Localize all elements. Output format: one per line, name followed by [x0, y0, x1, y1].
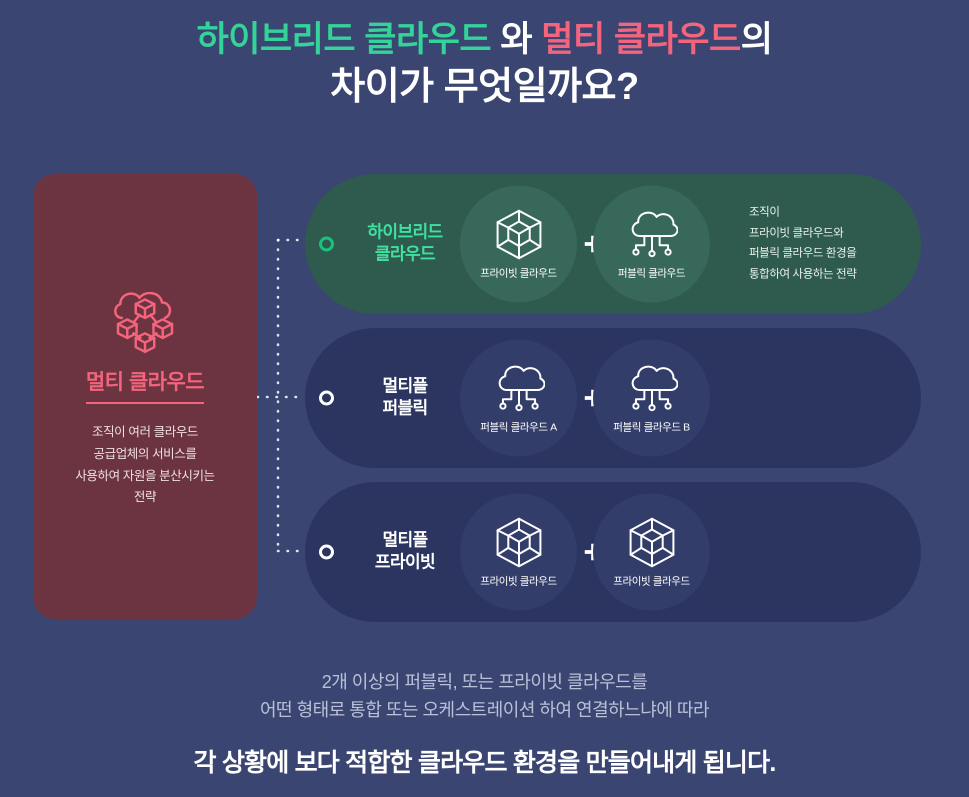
cloud-network-icon	[626, 208, 678, 260]
row-bullet-icon	[319, 545, 334, 560]
cube-icon	[493, 208, 545, 260]
row-hybrid-description: 조직이 프라이빗 클라우드와 퍼블릭 클라우드 환경을 통합하여 사용하는 전략	[749, 203, 856, 286]
bubble-private-cloud-a: 프라이빗 클라우드	[460, 494, 577, 611]
page-headline: 하이브리드 클라우드 와 멀티 클라우드의 차이가 무엇일까요?	[0, 20, 969, 109]
bubble-caption: 퍼블릭 클라우드 A	[480, 419, 556, 434]
multi-cloud-card-title: 멀티 클라우드	[86, 366, 204, 404]
bubble-caption: 프라이빗 클라우드	[480, 573, 557, 588]
headline-suffix-text: 의	[741, 20, 773, 59]
row-multiple-public[interactable]: 멀티플 퍼블릭 퍼블릭 클라우드 A 퍼블릭 클라우드 B	[305, 328, 921, 468]
headline-multi-text: 멀티 클라우드	[541, 20, 740, 59]
bubble-caption: 퍼블릭 클라우드 B	[613, 419, 689, 434]
bubble-caption: 프라이빗 클라우드	[480, 265, 557, 280]
row-hybrid-label: 하이브리드 클라우드	[353, 222, 457, 267]
row-multiple-public-label: 멀티플 퍼블릭	[353, 376, 457, 421]
cube-icon	[626, 516, 678, 568]
row-bullet-icon	[319, 237, 334, 252]
bubble-public-cloud-a: 퍼블릭 클라우드 A	[460, 340, 577, 457]
multi-cloud-summary-card: 멀티 클라우드 조직이 여러 클라우드 공급업체의 서비스를 사용하여 자원을 …	[33, 174, 257, 619]
cloud-network-icon	[493, 362, 545, 414]
multi-cloud-card-description: 조직이 여러 클라우드 공급업체의 서비스를 사용하여 자원을 분산시키는 전략	[75, 422, 214, 510]
headline-line-2: 차이가 무엇일까요?	[0, 65, 969, 109]
page-footer: 2개 이상의 퍼블릭, 또는 프라이빗 클라우드를 어떤 형태로 통합 또는 오…	[0, 668, 969, 779]
multi-cloud-network-icon	[106, 284, 184, 358]
bubble-public-cloud: 퍼블릭 클라우드	[593, 186, 710, 303]
row-multiple-private-label: 멀티플 프라이빗	[353, 530, 457, 575]
cube-icon	[493, 516, 545, 568]
footer-subtext-line-1: 2개 이상의 퍼블릭, 또는 프라이빗 클라우드를	[0, 668, 969, 696]
bubble-public-cloud-b: 퍼블릭 클라우드 B	[593, 340, 710, 457]
headline-line-1: 하이브리드 클라우드 와 멀티 클라우드의	[0, 20, 969, 61]
bubble-private-cloud: 프라이빗 클라우드	[460, 186, 577, 303]
footer-main-text: 각 상황에 보다 적합한 클라우드 환경을 만들어내게 됩니다.	[0, 743, 969, 779]
headline-conjunction-text: 와	[491, 20, 541, 59]
row-multiple-private[interactable]: 멀티플 프라이빗 프라이빗 클라우드 프라이빗 클라우드	[305, 482, 921, 622]
bubble-caption: 프라이빗 클라우드	[613, 573, 690, 588]
row-bullet-icon	[319, 391, 334, 406]
cloud-network-icon	[626, 362, 678, 414]
bubble-private-cloud-b: 프라이빗 클라우드	[593, 494, 710, 611]
footer-subtext-line-2: 어떤 형태로 통합 또는 오케스트레이션 하여 연결하느냐에 따라	[0, 696, 969, 724]
bubble-caption: 퍼블릭 클라우드	[618, 265, 685, 280]
headline-hybrid-text: 하이브리드 클라우드	[197, 20, 492, 59]
row-hybrid-cloud[interactable]: 하이브리드 클라우드 프라이빗 클라우드 퍼블릭 클라우드 조직이 프라이빗 클…	[305, 174, 921, 314]
